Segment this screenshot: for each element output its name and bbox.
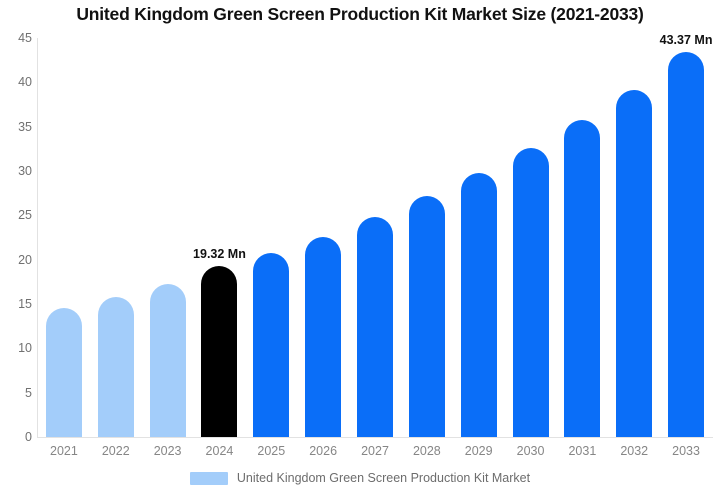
bar-2024[interactable]	[201, 266, 237, 437]
bar-2021[interactable]	[46, 308, 82, 437]
bar-2025[interactable]	[253, 253, 289, 437]
y-axis-tick-label: 45	[2, 31, 32, 45]
bar-value-label-2024: 19.32 Mn	[193, 247, 246, 261]
bar-slot	[150, 38, 186, 437]
bar-2033[interactable]	[668, 52, 704, 437]
bar-slot	[253, 38, 289, 437]
y-axis-tick-label: 25	[2, 208, 32, 222]
bar-slot	[409, 38, 445, 437]
x-axis-tick-label: 2033	[656, 444, 716, 458]
y-axis-tick-label: 40	[2, 75, 32, 89]
bar-2030[interactable]	[513, 148, 549, 437]
legend-swatch-icon	[190, 472, 228, 485]
bar-slot	[305, 38, 341, 437]
bar-2026[interactable]	[305, 237, 341, 437]
plot-area: 19.32 Mn43.37 Mn	[38, 38, 712, 437]
chart-legend: United Kingdom Green Screen Production K…	[0, 471, 720, 485]
y-axis-tick-label: 20	[2, 253, 32, 267]
bar-2027[interactable]	[357, 217, 393, 437]
bar-slot: 19.32 Mn	[201, 38, 237, 437]
bar-2031[interactable]	[564, 120, 600, 437]
y-axis-tick-label: 15	[2, 297, 32, 311]
bar-slot	[357, 38, 393, 437]
legend-item-label: United Kingdom Green Screen Production K…	[237, 471, 530, 485]
x-axis-line	[37, 437, 713, 438]
bar-value-label-2033: 43.37 Mn	[660, 33, 713, 47]
y-axis-tick-label: 30	[2, 164, 32, 178]
bar-slot: 43.37 Mn	[668, 38, 704, 437]
bar-2028[interactable]	[409, 196, 445, 437]
bar-slot	[46, 38, 82, 437]
bar-slot	[461, 38, 497, 437]
chart-container: United Kingdom Green Screen Production K…	[0, 0, 720, 500]
chart-title: United Kingdom Green Screen Production K…	[0, 4, 720, 25]
bar-slot	[98, 38, 134, 437]
bar-slot	[616, 38, 652, 437]
bar-2032[interactable]	[616, 90, 652, 437]
y-axis: 051015202530354045	[0, 0, 32, 500]
bar-2029[interactable]	[461, 173, 497, 437]
y-axis-tick-label: 10	[2, 341, 32, 355]
y-axis-tick-label: 5	[2, 386, 32, 400]
bar-slot	[513, 38, 549, 437]
bar-2022[interactable]	[98, 297, 134, 437]
bar-2023[interactable]	[150, 284, 186, 437]
bar-slot	[564, 38, 600, 437]
y-axis-tick-label: 35	[2, 120, 32, 134]
y-axis-tick-label: 0	[2, 430, 32, 444]
